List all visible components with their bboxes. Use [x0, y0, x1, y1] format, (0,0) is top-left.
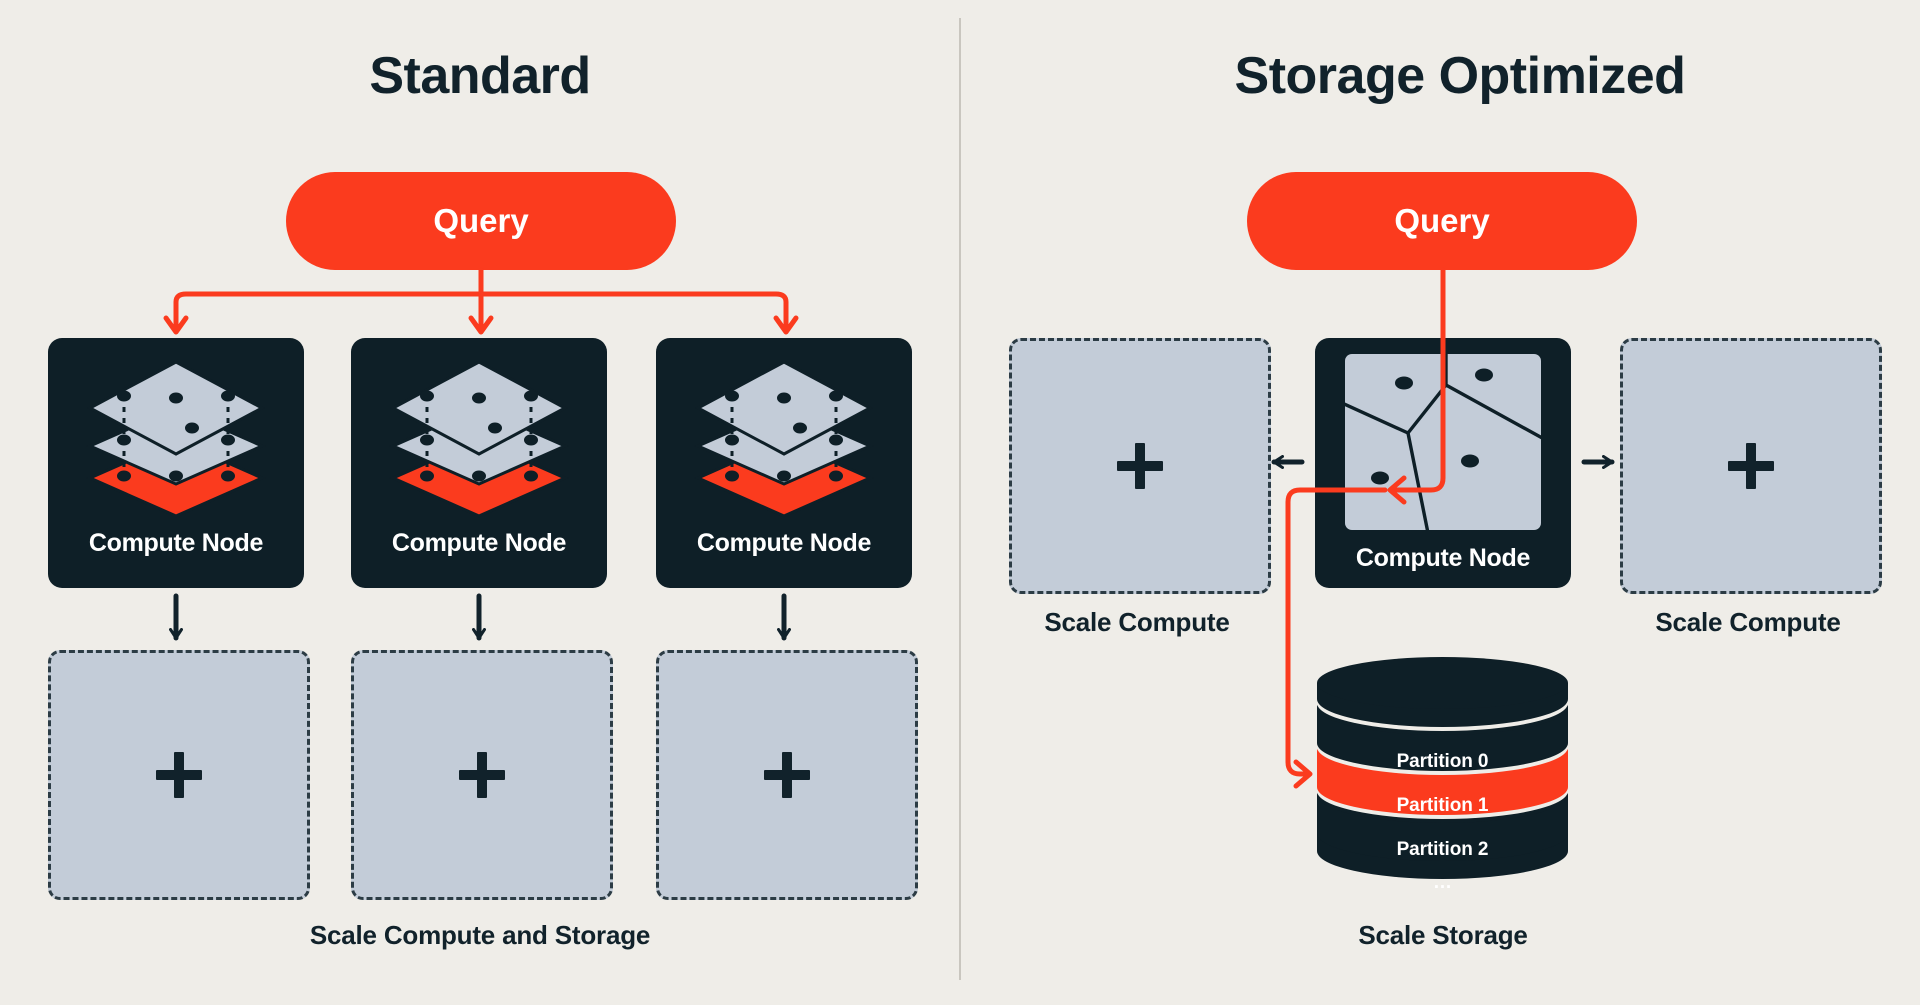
compute-node-label: Compute Node — [1356, 544, 1530, 573]
caption-scale-storage: Scale Storage — [1315, 920, 1571, 951]
query-pill-standard[interactable]: Query — [286, 172, 676, 270]
query-pill-label: Query — [433, 202, 528, 240]
panel-title-storage-optimized: Storage Optimized — [1060, 50, 1860, 102]
panel-title-standard: Standard — [80, 50, 880, 102]
compute-node-label: Compute Node — [697, 529, 871, 558]
compute-node-label: Compute Node — [392, 529, 566, 558]
cylinder-shape — [1315, 655, 1570, 895]
diagram-canvas: Standard Query — [0, 0, 1920, 1005]
plus-icon — [1117, 443, 1163, 489]
layered-stack-icon — [379, 352, 579, 525]
layered-stack-icon — [76, 352, 276, 525]
caption-scale-compute-right: Scale Compute — [1620, 607, 1876, 638]
compute-node-label: Compute Node — [89, 529, 263, 558]
compute-node-card-2[interactable]: Compute Node — [351, 338, 607, 588]
query-fanout-connector — [176, 270, 786, 330]
query-pill-label: Query — [1394, 202, 1489, 240]
compute-node-card-1[interactable]: Compute Node — [48, 338, 304, 588]
plus-icon — [1728, 443, 1774, 489]
scale-compute-placeholder-left[interactable] — [1009, 338, 1271, 594]
compute-node-card-3[interactable]: Compute Node — [656, 338, 912, 588]
scale-placeholder-2[interactable] — [351, 650, 613, 900]
plus-icon — [764, 752, 810, 798]
query-pill-storage[interactable]: Query — [1247, 172, 1637, 270]
plus-icon — [156, 752, 202, 798]
scale-placeholder-3[interactable] — [656, 650, 918, 900]
scale-placeholder-1[interactable] — [48, 650, 310, 900]
partition-map-icon — [1342, 351, 1544, 538]
layered-stack-icon — [684, 352, 884, 525]
scale-compute-placeholder-right[interactable] — [1620, 338, 1882, 594]
panel-divider — [959, 18, 961, 980]
plus-icon — [459, 752, 505, 798]
compute-node-card-storage[interactable]: Compute Node — [1315, 338, 1571, 588]
storage-cylinder[interactable]: Partition 0 Partition 1 Partition 2 … — [1315, 655, 1570, 895]
caption-scale-compute-left: Scale Compute — [1009, 607, 1265, 638]
caption-scale-compute-and-storage: Scale Compute and Storage — [130, 920, 830, 951]
query-fanout-arrowheads — [166, 318, 796, 332]
node-to-storage-arrows — [176, 596, 784, 638]
